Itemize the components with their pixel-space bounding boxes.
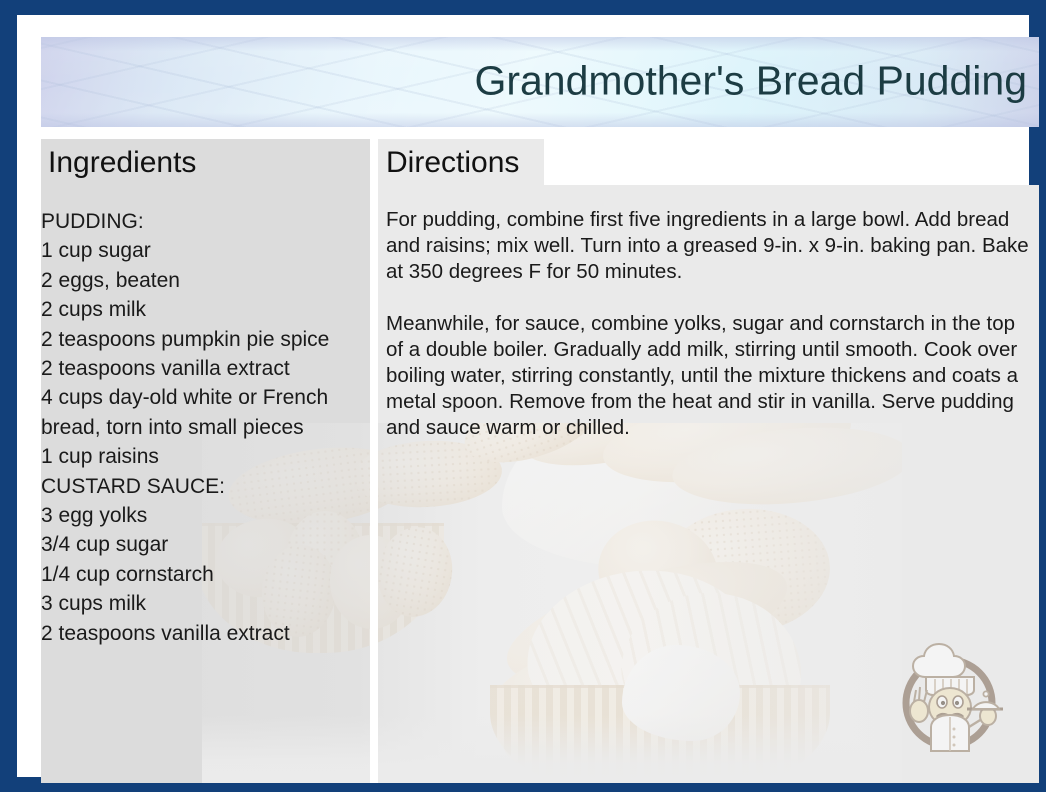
ingredient-line: bread, torn into small pieces — [41, 413, 381, 442]
ingredients-list: PUDDING: 1 cup sugar 2 eggs, beaten 2 cu… — [41, 207, 381, 648]
recipe-card-frame: Grandmother's Bread Pudding — [0, 0, 1046, 792]
ingredient-line: 2 teaspoons vanilla extract — [41, 354, 381, 383]
chef-with-cloche-logo — [895, 641, 1003, 753]
ingredient-line: 2 eggs, beaten — [41, 266, 381, 295]
page-title: Grandmother's Bread Pudding — [474, 60, 1027, 103]
ingredient-line: 1 cup sugar — [41, 236, 381, 265]
title-banner: Grandmother's Bread Pudding — [41, 37, 1039, 127]
directions-heading: Directions — [386, 146, 519, 180]
ingredient-line: 2 cups milk — [41, 295, 381, 324]
direction-paragraph: For pudding, combine first five ingredie… — [386, 207, 1034, 285]
directions-body: For pudding, combine first five ingredie… — [386, 207, 1034, 441]
ingredient-line: 2 teaspoons vanilla extract — [41, 619, 381, 648]
recipe-card-mat: Grandmother's Bread Pudding — [17, 15, 1029, 777]
ingredient-line: 4 cups day-old white or French — [41, 383, 381, 412]
ingredient-line: 2 teaspoons pumpkin pie spice — [41, 325, 381, 354]
ingredient-line: CUSTARD SAUCE: — [41, 472, 381, 501]
ingredient-line: 1 cup raisins — [41, 442, 381, 471]
ingredient-line: 1/4 cup cornstarch — [41, 560, 381, 589]
ingredient-line: 3 cups milk — [41, 589, 381, 618]
ingredient-line: 3/4 cup sugar — [41, 530, 381, 559]
ingredient-line: PUDDING: — [41, 207, 381, 236]
direction-paragraph: Meanwhile, for sauce, combine yolks, sug… — [386, 311, 1034, 441]
ingredients-heading: Ingredients — [48, 146, 196, 180]
ingredient-line: 3 egg yolks — [41, 501, 381, 530]
